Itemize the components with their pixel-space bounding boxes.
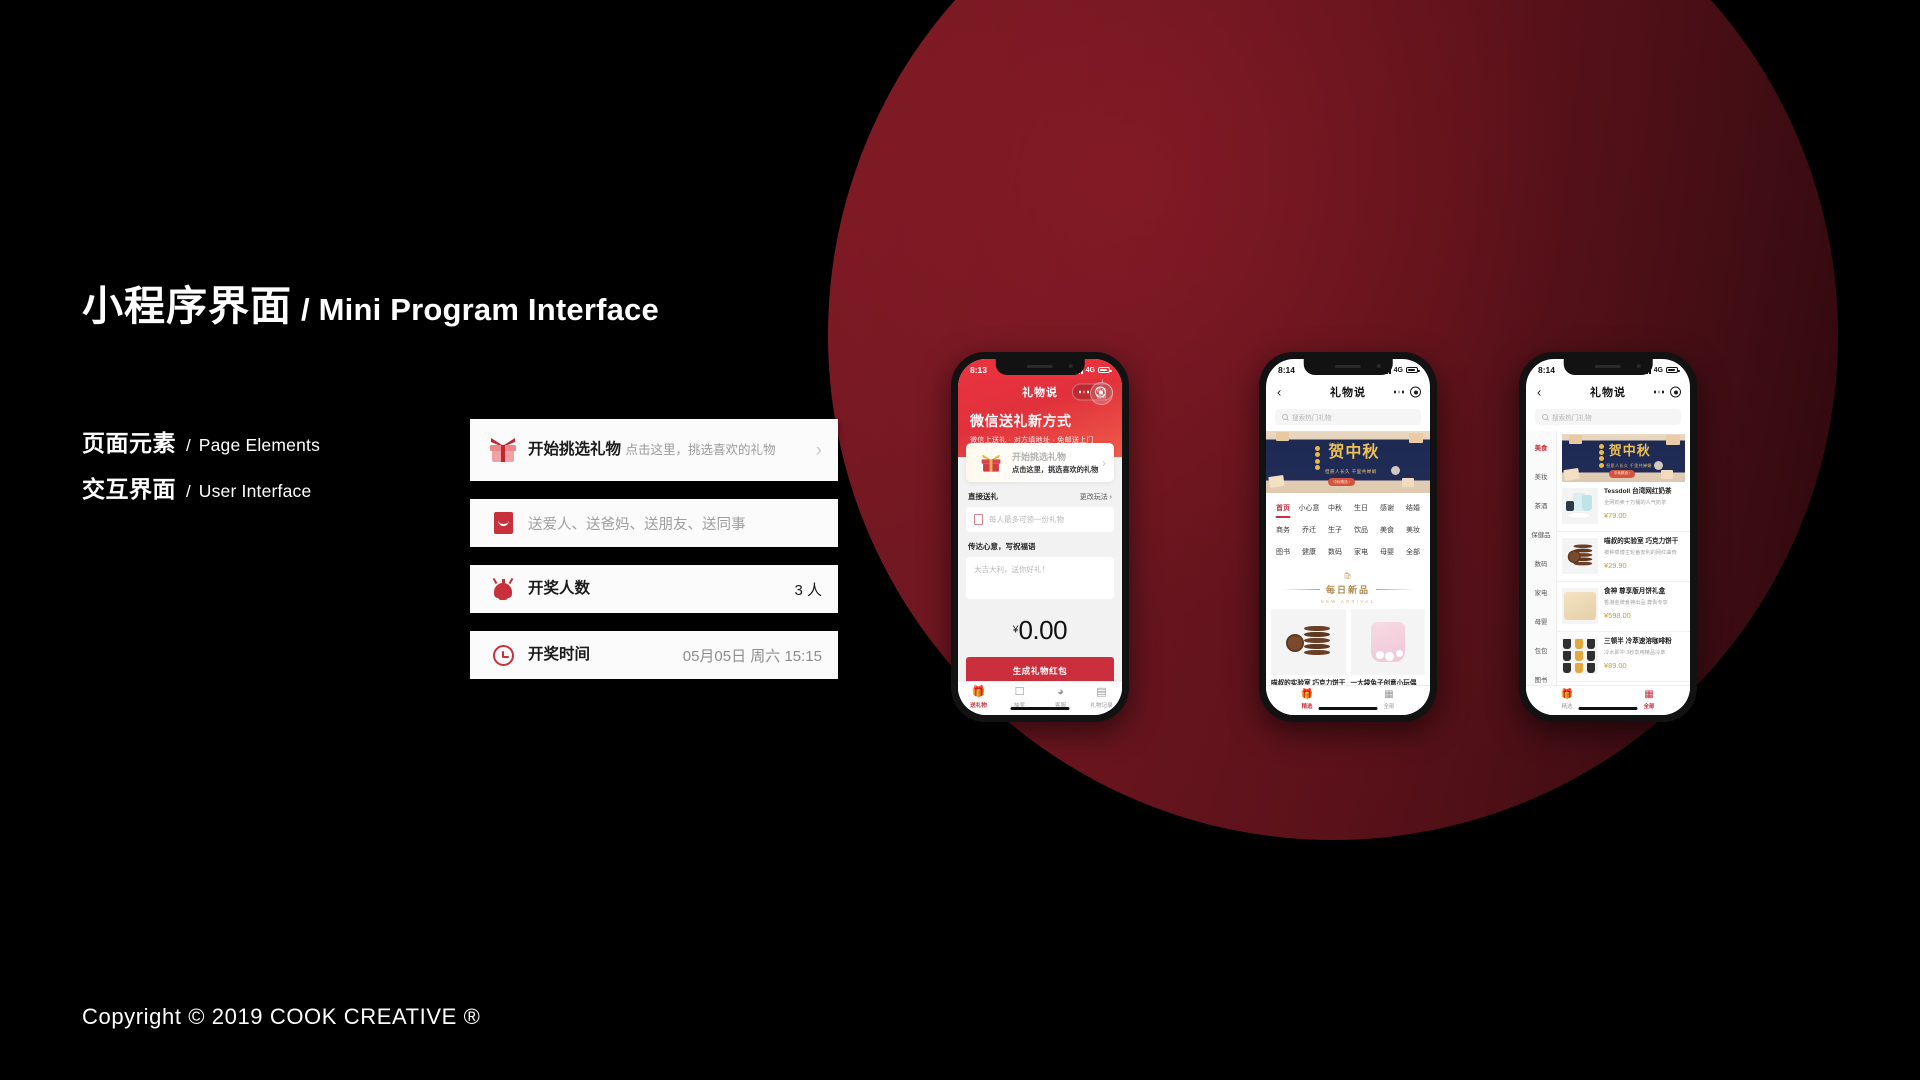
wechat-capsule[interactable] <box>1394 387 1421 398</box>
notch <box>1304 359 1393 375</box>
status-time: 8:13 <box>970 365 987 375</box>
more-icon[interactable] <box>1079 391 1089 393</box>
category-row-2: 商务 乔迁 生子 饮品 美食 美妆 <box>1270 519 1426 541</box>
phone-mockup-2: 8:14 4G ‹ 礼物说 搜索热门礼物 <box>1259 352 1437 722</box>
element-card-pick-gift-subtitle: 点击这里，挑选喜欢的礼物 <box>625 443 775 457</box>
copyright-text: Copyright © 2019 COOK CREATIVE ® <box>82 1004 480 1030</box>
product-info: 三顿半 冷萃速溶咖啡粉 冷水即冲 3秒享用精品冷萃 ¥89.00 <box>1604 638 1684 674</box>
mid-autumn-banner[interactable]: 贺中秋 但愿人长久 千里共婵娟 中秋精选 › <box>1562 434 1685 482</box>
tab-gift-records[interactable]: ▤ 礼物记录 <box>1081 687 1122 709</box>
phone-mockup-3: 8:14 4G ‹ 礼物说 搜索热门礼物 <box>1519 352 1697 722</box>
price-display: ¥0.00 <box>966 615 1114 646</box>
new-arrival-title-row: 每日新品 <box>1266 583 1430 596</box>
wish-row: 传达心意，写祝福语 <box>968 541 1112 552</box>
navbar-title: 礼物说 <box>1330 384 1366 400</box>
product-name: 三顿半 冷萃速溶咖啡粉 <box>1604 638 1684 647</box>
search-icon <box>1282 414 1288 420</box>
sidebar-item-appliances[interactable]: 家电 <box>1526 578 1556 607</box>
grid-icon: ▦ <box>1608 690 1690 700</box>
quota-field-text: 每人最多可领一份礼物 <box>989 514 1064 525</box>
close-target-icon[interactable] <box>1670 387 1681 398</box>
banner-cta-pill[interactable]: 中秋精选 › <box>1609 470 1636 478</box>
product-price: ¥89.00 <box>1604 661 1684 670</box>
wish-input[interactable]: 大吉大利，送你好礼！ <box>966 557 1114 599</box>
sidebar-item-mother-baby[interactable]: 母婴 <box>1526 607 1556 636</box>
new-arrival-title: 每日新品 <box>1326 583 1370 596</box>
product-price: ¥79.00 <box>1604 511 1684 520</box>
banner-cta-pill[interactable]: 中秋精选 › <box>1328 478 1355 486</box>
battery-icon <box>1666 367 1678 374</box>
product-desc: 全网劲卖十万桶的人气奶茶 <box>1604 500 1684 507</box>
search-input[interactable]: 搜索热门礼物 <box>1275 409 1421 425</box>
pick-gift-card-text: 开始挑选礼物 点击这里，挑选喜欢的礼物 <box>1012 450 1102 475</box>
product-name: 食神 尊享版月饼礼盒 <box>1604 588 1684 597</box>
product-desc: 香港金牌食神出品 尊贵专享 <box>1604 600 1684 607</box>
category-home[interactable]: 首页 <box>1270 497 1296 519</box>
bag-icon: 🛍 <box>1266 573 1430 580</box>
product-info: 食神 尊享版月饼礼盒 香港金牌食神出品 尊贵专享 ¥598.00 <box>1604 588 1684 624</box>
plush-art <box>1371 622 1405 662</box>
product-image <box>1562 638 1598 674</box>
chevron-right-icon[interactable]: › <box>1102 456 1106 470</box>
tab-gift-records-label: 礼物记录 <box>1090 703 1112 709</box>
coffee-art <box>1563 639 1597 673</box>
category-housewarming[interactable]: 乔迁 <box>1296 519 1322 541</box>
category-row-1: 首页 小心意 中秋 生日 感谢 结婚 <box>1270 497 1426 519</box>
subtitle-user-interface-separator: / <box>186 482 191 502</box>
guide-badge[interactable]: 操作 指南 <box>1090 382 1113 405</box>
category-thanks[interactable]: 感谢 <box>1374 497 1400 519</box>
category-beauty[interactable]: 美妆 <box>1400 519 1426 541</box>
element-card-winner-count[interactable]: 开奖人数 3 人 <box>470 565 838 613</box>
gift-icon <box>486 438 520 462</box>
product-image <box>1562 538 1598 574</box>
new-arrival-header: 🛍 每日新品 NEW ARRIVAL <box>1266 565 1430 609</box>
tab-support[interactable]: ◕ 客服 <box>1040 687 1081 709</box>
back-icon[interactable]: ‹ <box>1537 385 1541 400</box>
clock-icon <box>486 645 520 666</box>
phone-2-screen: 8:14 4G ‹ 礼物说 搜索热门礼物 <box>1266 359 1430 715</box>
category-drinks[interactable]: 饮品 <box>1348 519 1374 541</box>
mid-autumn-banner[interactable]: 9 / 24 贺中秋 但愿人长久 千里共婵娟 中秋精选 › <box>1266 431 1430 493</box>
coin-decoration <box>1315 446 1320 470</box>
page-title-en: Mini Program Interface <box>319 292 659 328</box>
phone-2-tabbar: 🎁 精选 ▦ 全部 <box>1266 685 1430 715</box>
network-label: 4G <box>1086 367 1095 374</box>
subtitle-user-interface-cn: 交互界面 <box>82 470 176 504</box>
product-image <box>1562 588 1598 624</box>
record-icon: ▤ <box>1081 687 1122 698</box>
search-icon <box>1542 414 1548 420</box>
notch <box>996 359 1085 375</box>
list-item[interactable]: 喵叔的实验室 巧克力饼干 被种草博主轮番安利的网红曲奇 ¥29.90 <box>1557 532 1690 582</box>
slide-canvas: 小程序界面 / Mini Program Interface 页面元素 / Pa… <box>0 0 1920 1080</box>
phone-3-navbar: ‹ 礼物说 <box>1526 379 1690 405</box>
phone-1-body: 开始挑选礼物 点击这里，挑选喜欢的礼物 › 直接送礼 更改玩法 › 每人最多可领… <box>958 443 1122 711</box>
home-indicator <box>1318 707 1377 711</box>
red-packet-icon <box>974 514 983 525</box>
section-subtitles: 页面元素 / Page Elements 交互界面 / User Interfa… <box>82 424 320 516</box>
sidebar-item-food[interactable]: 美食 <box>1526 433 1556 462</box>
direct-gift-label: 直接送礼 <box>968 491 998 502</box>
network-label: 4G <box>1654 367 1663 374</box>
page-title-separator: / <box>301 292 310 328</box>
tab-send-gift[interactable]: 🎁 送礼物 <box>958 687 999 709</box>
chevron-right-icon[interactable]: › <box>816 441 822 460</box>
list-item[interactable]: 三顿半 冷萃速溶咖啡粉 冷水即冲 3秒享用精品冷萃 ¥89.00 <box>1557 632 1690 682</box>
category-birthday[interactable]: 生日 <box>1348 497 1374 519</box>
category-food[interactable]: 美食 <box>1374 519 1400 541</box>
close-target-icon[interactable] <box>1410 387 1421 398</box>
phone-1-screen: 8:13 4G 礼物说 操作 指南 <box>958 359 1122 715</box>
gift-icon: 🎁 <box>958 687 999 698</box>
headset-icon: ◕ <box>1040 687 1081 698</box>
subtitle-page-elements-cn: 页面元素 <box>82 424 176 458</box>
element-card-draw-time-title: 开奖时间 <box>528 646 590 663</box>
element-card-recipient-placeholder: 送爱人、送爸妈、送朋友、送同事 <box>528 517 746 533</box>
element-card-draw-time[interactable]: 开奖时间 05月05日 周六 15:15 <box>470 631 838 679</box>
status-time: 8:14 <box>1278 365 1295 375</box>
sidebar-item-tea-wine[interactable]: 茶酒 <box>1526 491 1556 520</box>
more-icon[interactable] <box>1394 391 1404 393</box>
category-mother-baby[interactable]: 母婴 <box>1374 541 1400 563</box>
cookie-art <box>1285 622 1331 662</box>
element-card-draw-time-value[interactable]: 05月05日 周六 15:15 <box>683 645 822 666</box>
new-arrival-subtitle: NEW ARRIVAL <box>1266 599 1430 604</box>
wish-label: 传达心意，写祝福语 <box>968 541 1036 552</box>
element-card-pick-gift-title: 开始挑选礼物 <box>528 441 621 458</box>
product-info: Tessdoll 台湾网红奶茶 全网劲卖十万桶的人气奶茶 ¥79.00 <box>1604 488 1684 524</box>
tab-all-label: 全部 <box>1384 704 1395 710</box>
category-grid: 首页 小心意 中秋 生日 感谢 结婚 商务 乔迁 生子 饮品 美食 美妆 图书 <box>1266 493 1430 565</box>
phone-3-tabbar: 🎁 精选 ▦ 全部 <box>1526 685 1690 715</box>
phone-3-main: 美食 美妆 茶酒 保健品 数码 家电 母婴 包包 图书 首饰 <box>1526 431 1690 715</box>
red-packet-icon <box>486 512 520 534</box>
home-indicator <box>1578 707 1637 711</box>
product-image <box>1562 488 1598 524</box>
change-mode-link[interactable]: 更改玩法 › <box>1080 492 1112 502</box>
price-amount: 0.00 <box>1018 615 1067 645</box>
mooncake-art <box>1564 592 1596 620</box>
category-small-gift[interactable]: 小心意 <box>1296 497 1322 519</box>
quota-field[interactable]: 每人最多可领一份礼物 <box>966 507 1114 532</box>
tab-all-label: 全部 <box>1644 704 1655 710</box>
sidebar-item-digital[interactable]: 数码 <box>1526 549 1556 578</box>
category-health[interactable]: 健康 <box>1296 541 1322 563</box>
category-newborn[interactable]: 生子 <box>1322 519 1348 541</box>
grid-icon: ▦ <box>1348 690 1430 700</box>
hero-heading: 微信送礼新方式 <box>970 411 1122 431</box>
category-digital[interactable]: 数码 <box>1322 541 1348 563</box>
wechat-capsule[interactable] <box>1654 387 1681 398</box>
banner-subtitle: 但愿人长久 千里共婵娟 <box>1606 463 1652 469</box>
element-card-winner-count-title: 开奖人数 <box>528 580 590 597</box>
product-price: ¥29.90 <box>1604 561 1684 570</box>
list-item[interactable]: 食神 尊享版月饼礼盒 香港金牌食神出品 尊贵专享 ¥598.00 <box>1557 582 1690 632</box>
draw-icon: ☐ <box>999 687 1040 698</box>
category-mid-autumn[interactable]: 中秋 <box>1322 497 1348 519</box>
element-card-winner-count-text: 开奖人数 <box>528 579 794 600</box>
wish-input-value: 大吉大利，送你好礼！ <box>974 564 1049 575</box>
product-desc: 冷水即冲 3秒享用精品冷萃 <box>1604 650 1684 657</box>
phone-2-navbar: ‹ 礼物说 <box>1266 379 1430 405</box>
back-icon[interactable]: ‹ <box>1277 385 1281 400</box>
gift-icon: 🎁 <box>1266 690 1348 700</box>
pick-gift-card-subtitle: 点击这里，挑选喜欢的礼物 <box>1012 465 1102 475</box>
phone-mockup-1: 8:13 4G 礼物说 操作 指南 <box>951 352 1129 722</box>
network-label: 4G <box>1394 367 1403 374</box>
navbar-title: 礼物说 <box>1022 384 1058 400</box>
battery-icon <box>1098 367 1110 374</box>
search-input[interactable]: 搜索热门礼物 <box>1535 409 1681 425</box>
more-icon[interactable] <box>1654 391 1664 393</box>
navbar-title: 礼物说 <box>1590 384 1626 400</box>
lantern-icon <box>486 577 520 601</box>
gift-icon: 🎁 <box>1526 690 1608 700</box>
category-sidebar: 美食 美妆 茶酒 保健品 数码 家电 母婴 包包 图书 首饰 <box>1526 431 1557 715</box>
sidebar-item-bags[interactable]: 包包 <box>1526 636 1556 665</box>
subtitle-user-interface-en: User Interface <box>199 481 312 502</box>
direct-gift-row: 直接送礼 更改玩法 › <box>968 491 1112 502</box>
page-title: 小程序界面 / Mini Program Interface <box>82 272 659 332</box>
element-card-recipient-text: 送爱人、送爸妈、送朋友、送同事 <box>528 513 822 534</box>
category-books[interactable]: 图书 <box>1270 541 1296 563</box>
element-card-draw-time-text: 开奖时间 <box>528 645 683 666</box>
element-card-pick-gift[interactable]: 开始挑选礼物 点击这里，挑选喜欢的礼物 › <box>470 419 838 481</box>
product-image <box>1351 609 1426 675</box>
subtitle-page-elements-en: Page Elements <box>199 435 320 456</box>
tab-send-gift-label: 送礼物 <box>970 703 987 709</box>
product-price: ¥598.00 <box>1604 611 1684 620</box>
product-list: 贺中秋 但愿人长久 千里共婵娟 中秋精选 › Tessdoll 台湾网红奶茶 全… <box>1557 431 1690 715</box>
product-name: 喵叔的实验室 巧克力饼干 <box>1604 538 1684 547</box>
element-card-recipient[interactable]: 送爱人、送爸妈、送朋友、送同事 <box>470 499 838 547</box>
list-item[interactable]: Tessdoll 台湾网红奶茶 全网劲卖十万桶的人气奶茶 ¥79.00 <box>1557 482 1690 532</box>
banner-title: 贺中秋 <box>1328 445 1379 461</box>
sidebar-item-beauty[interactable]: 美妆 <box>1526 462 1556 491</box>
product-desc: 被种草博主轮番安利的网红曲奇 <box>1604 550 1684 557</box>
product-name: Tessdoll 台湾网红奶茶 <box>1604 488 1684 497</box>
subtitle-page-elements-separator: / <box>186 436 191 456</box>
element-card-winner-count-value[interactable]: 3 人 <box>794 579 822 600</box>
subtitle-page-elements: 页面元素 / Page Elements <box>82 424 320 458</box>
notch <box>1564 359 1653 375</box>
sidebar-item-healthcare[interactable]: 保健品 <box>1526 520 1556 549</box>
product-image <box>1271 609 1346 675</box>
banner-subtitle: 但愿人长久 千里共婵娟 <box>1325 469 1377 475</box>
gift-icon <box>974 451 1008 475</box>
element-card-pick-gift-text: 开始挑选礼物 点击这里，挑选喜欢的礼物 <box>528 440 816 461</box>
guide-badge-line2: 指南 <box>1097 394 1107 400</box>
category-business[interactable]: 商务 <box>1270 519 1296 541</box>
page-title-cn: 小程序界面 <box>82 272 292 332</box>
search-placeholder: 搜索热门礼物 <box>1292 412 1332 422</box>
home-indicator <box>1010 707 1069 711</box>
subtitle-user-interface: 交互界面 / User Interface <box>82 470 320 504</box>
status-time: 8:14 <box>1538 365 1555 375</box>
category-all[interactable]: 全部 <box>1400 541 1426 563</box>
category-wedding[interactable]: 结婚 <box>1400 497 1426 519</box>
milk-tea-art <box>1565 491 1595 521</box>
tab-featured-label: 精选 <box>1302 704 1313 710</box>
category-row-3: 图书 健康 数码 家电 母婴 全部 <box>1270 541 1426 563</box>
tab-featured-label: 精选 <box>1562 704 1573 710</box>
category-appliances[interactable]: 家电 <box>1348 541 1374 563</box>
phone-3-screen: 8:14 4G ‹ 礼物说 搜索热门礼物 <box>1526 359 1690 715</box>
element-card-list: 开始挑选礼物 点击这里，挑选喜欢的礼物 › 送爱人、送爸妈、送朋友、送同事 开奖… <box>470 419 838 697</box>
product-info: 喵叔的实验室 巧克力饼干 被种草博主轮番安利的网红曲奇 ¥29.90 <box>1604 538 1684 574</box>
banner-title: 贺中秋 <box>1609 444 1651 457</box>
search-placeholder: 搜索热门礼物 <box>1552 412 1592 422</box>
pick-gift-card[interactable]: 开始挑选礼物 点击这里，挑选喜欢的礼物 › <box>966 443 1114 482</box>
battery-icon <box>1406 367 1418 374</box>
tab-draw[interactable]: ☐ 抽奖 <box>999 687 1040 709</box>
cookie-art <box>1567 542 1593 571</box>
pick-gift-card-title: 开始挑选礼物 <box>1012 450 1102 463</box>
coin-decoration <box>1599 444 1604 468</box>
